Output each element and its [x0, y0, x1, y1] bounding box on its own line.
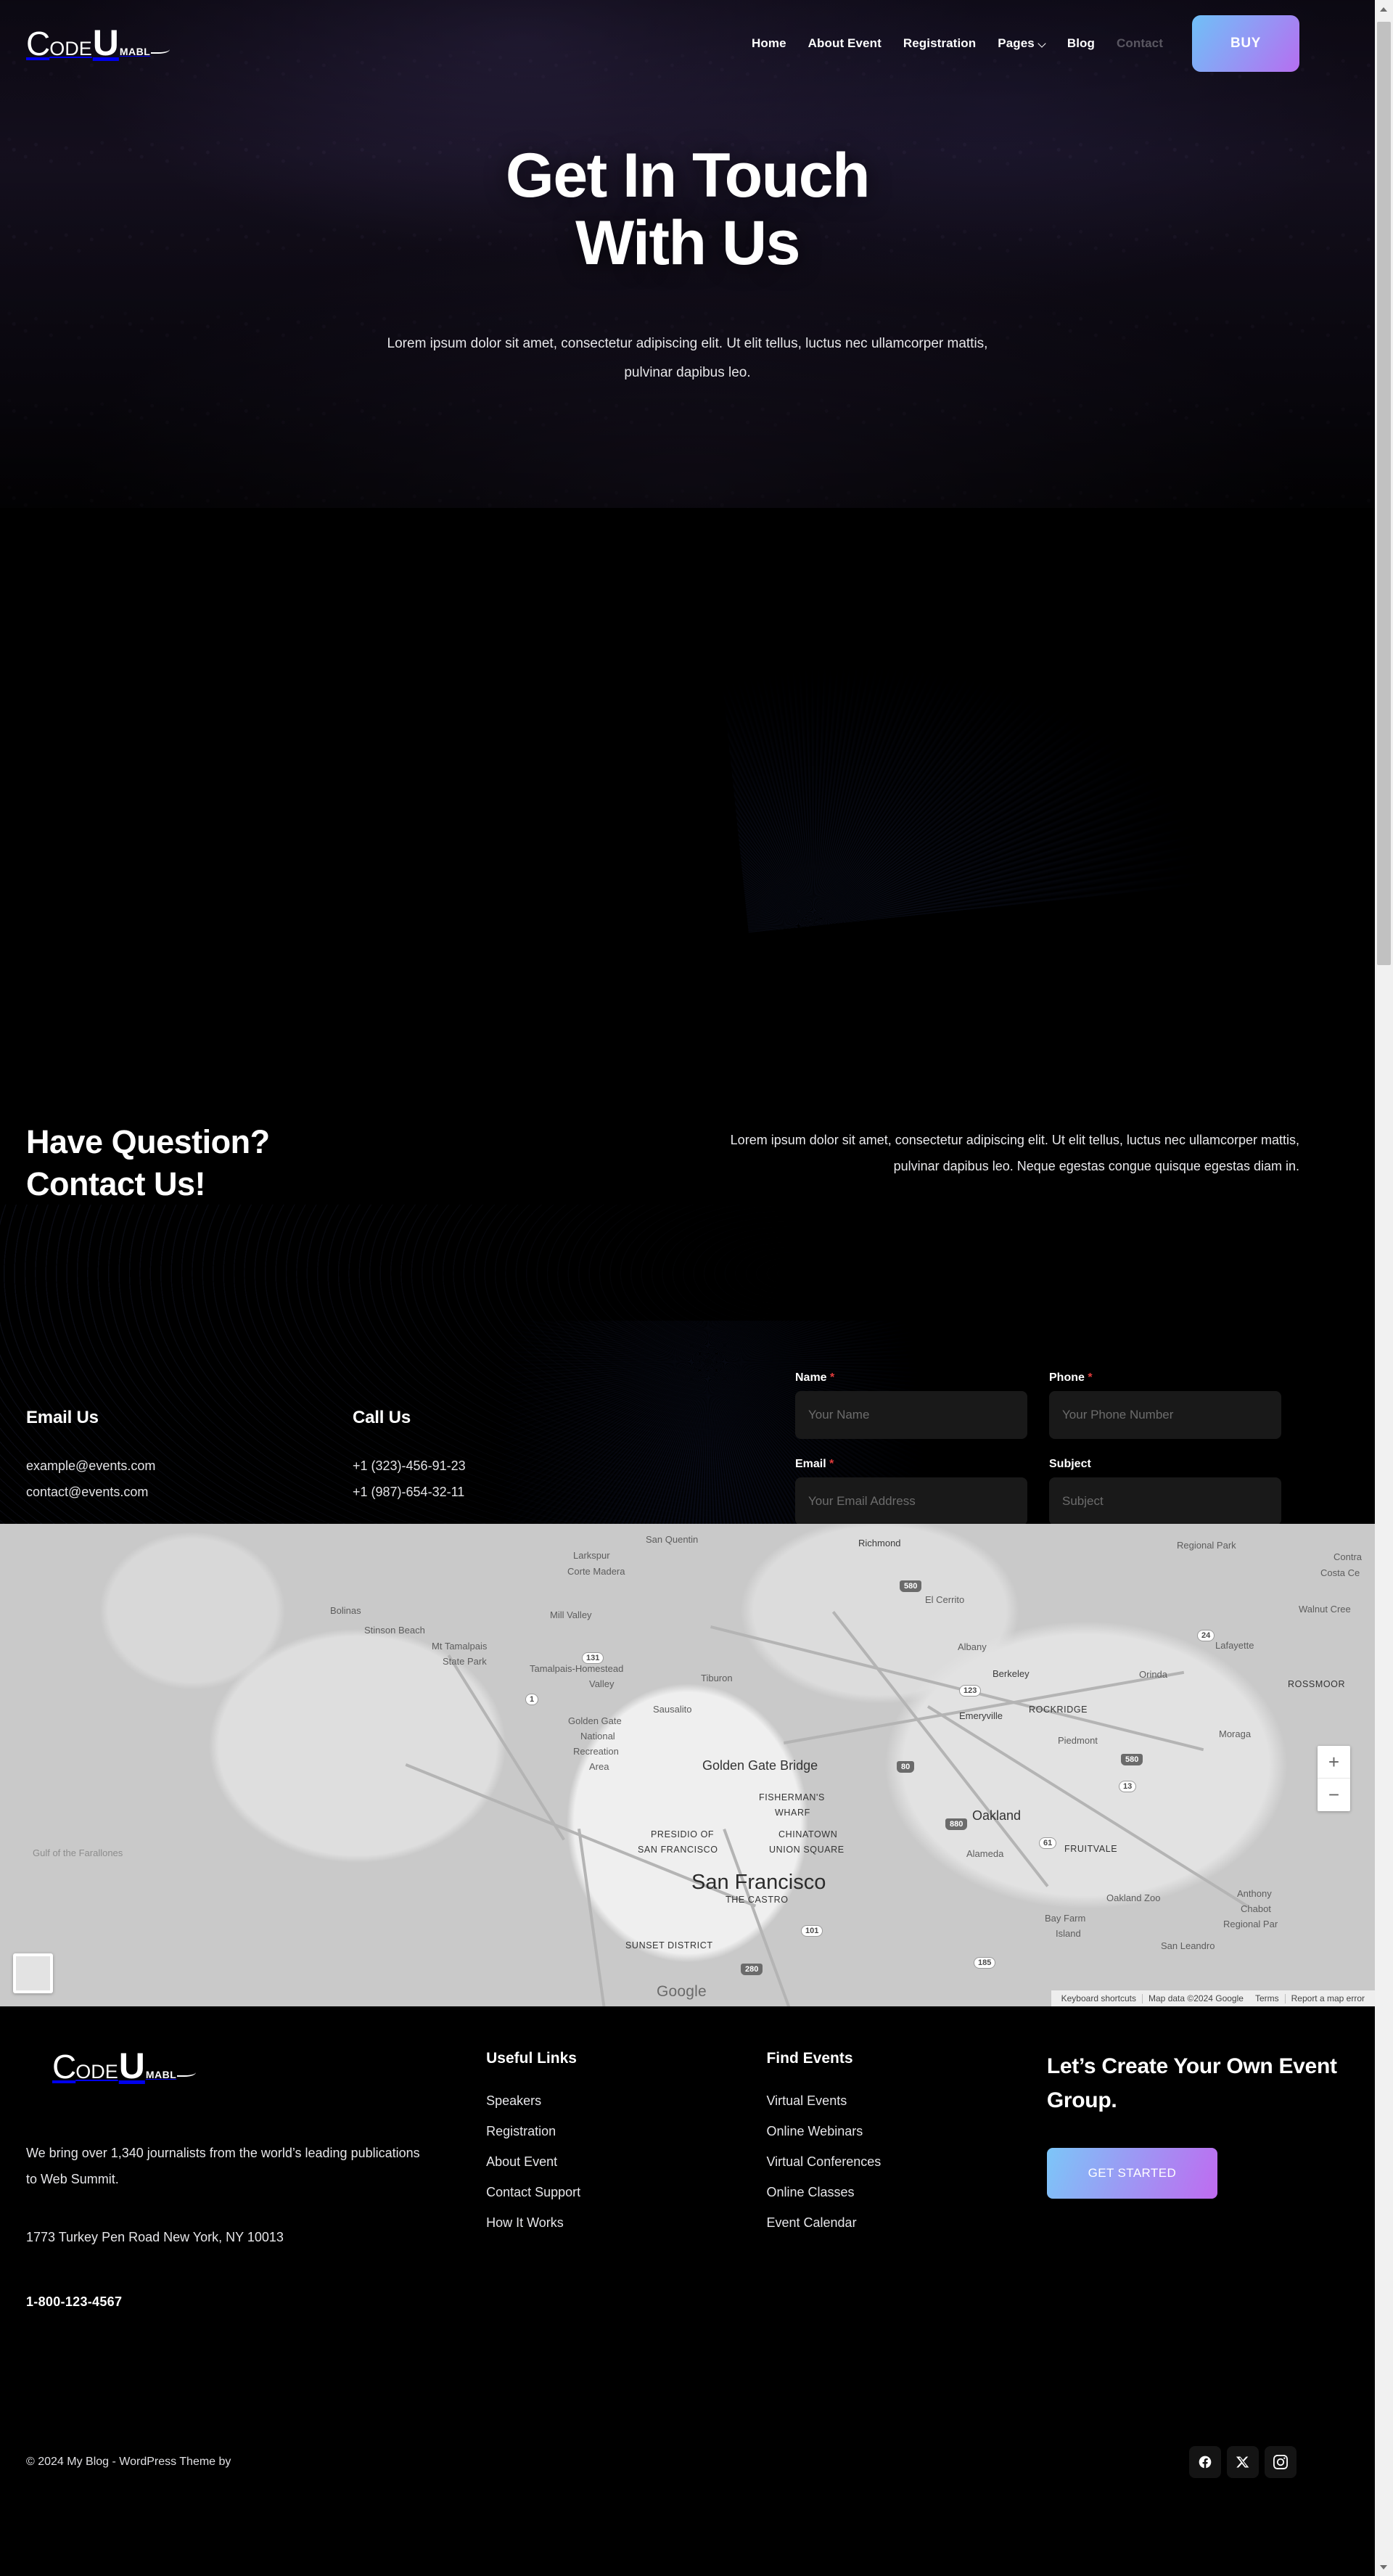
form-row-name-phone: Name * Phone *	[795, 1371, 1281, 1439]
logo-letter-u: U	[93, 27, 119, 60]
form-row-email-subject: Email * Subject	[795, 1458, 1281, 1524]
nav-label: Contact	[1117, 36, 1163, 51]
map-place-label: Valley	[589, 1678, 614, 1689]
map-place-label: Gulf of the Farallones	[33, 1847, 123, 1858]
hero-title-line-2: With Us	[575, 208, 800, 278]
nav-item-home[interactable]: Home	[752, 36, 786, 51]
page-scrollbar[interactable]	[1375, 0, 1393, 2576]
keyboard-shortcuts-link[interactable]: Keyboard shortcuts	[1056, 1993, 1142, 2003]
map-place-label: Regional Park	[1177, 1540, 1236, 1551]
nav-item-registration[interactable]: Registration	[903, 36, 976, 51]
email-label-text: Email	[795, 1458, 826, 1470]
contact-info-grid: Email Us example@events.com contact@even…	[26, 1408, 679, 1524]
field-name: Name *	[795, 1371, 1027, 1439]
footer-link-virtual-events[interactable]: Virtual Events	[766, 2093, 1046, 2109]
primary-nav: Home About Event Registration Pages Blog…	[752, 36, 1163, 51]
map-place-label: Oakland	[972, 1808, 1021, 1824]
map-place-label: Anthony	[1237, 1888, 1272, 1899]
footer-link-about-event[interactable]: About Event	[486, 2154, 766, 2170]
map-place-label: Emeryville	[959, 1710, 1003, 1721]
contact-title-line-1: Have Question?	[26, 1123, 270, 1160]
map-place-label: ROCKRIDGE	[1029, 1705, 1088, 1715]
hero-subtitle: Lorem ipsum dolor sit amet, consectetur …	[369, 329, 1007, 387]
site-footer: CODEUMABL We bring over 1,340 journalist…	[0, 2006, 1375, 2504]
contact-title: Have Question? Contact Us!	[26, 1121, 270, 1205]
nav-label: About Event	[808, 36, 882, 51]
map-place-label: Walnut Cree	[1299, 1604, 1351, 1615]
map-place-label: Lafayette	[1215, 1640, 1254, 1651]
instagram-icon[interactable]	[1265, 2446, 1297, 2478]
footer-link-registration[interactable]: Registration	[486, 2124, 766, 2139]
subject-label-text: Subject	[1049, 1458, 1091, 1470]
map-highway-shield: 131	[582, 1652, 604, 1664]
map-place-label: Bay Farm	[1045, 1913, 1085, 1924]
map-place-label: State Park	[443, 1656, 487, 1667]
email-primary[interactable]: example@events.com	[26, 1459, 353, 1472]
field-phone: Phone *	[1049, 1371, 1281, 1439]
required-asterisk: *	[1088, 1371, 1092, 1384]
map-terrain	[0, 1524, 1375, 2006]
logo-text-mabl: MABL	[146, 2069, 176, 2080]
phone-label-text: Phone	[1049, 1371, 1085, 1384]
nav-item-blog[interactable]: Blog	[1067, 36, 1095, 51]
map-place-label: Costa Ce	[1320, 1567, 1360, 1578]
map-place-label: CHINATOWN	[778, 1829, 837, 1839]
map-place-label: Orinda	[1139, 1669, 1167, 1680]
site-header: CODEUMABL Home About Event Registration …	[0, 0, 1375, 87]
map-place-label: Tamalpais-Homestead	[530, 1663, 623, 1674]
map-highway-shield: 123	[959, 1685, 981, 1697]
map-highway-shield: 80	[897, 1761, 914, 1773]
map-place-label: National	[580, 1731, 615, 1742]
location-map[interactable]: + − Google Keyboard shortcuts Map data ©…	[0, 1524, 1375, 2006]
map-highway-shield: 580	[900, 1580, 921, 1592]
map-place-label: Albany	[958, 1641, 987, 1652]
footer-description: We bring over 1,340 journalists from the…	[26, 2140, 432, 2192]
nav-label: Registration	[903, 36, 976, 51]
required-asterisk: *	[830, 1371, 834, 1384]
x-twitter-icon[interactable]	[1227, 2446, 1259, 2478]
map-place-label: Sausalito	[653, 1704, 691, 1715]
map-data-credit: Map data ©2024 Google	[1143, 1993, 1249, 2003]
map-place-label: Oakland Zoo	[1106, 1892, 1160, 1903]
subject-label: Subject	[1049, 1458, 1281, 1471]
map-place-label: San Leandro	[1161, 1940, 1215, 1951]
contact-block-call-us: Call Us +1 (323)-456-91-23 +1 (987)-654-…	[353, 1408, 679, 1498]
map-highway-shield: 101	[801, 1925, 823, 1937]
map-place-label: THE CASTRO	[726, 1895, 789, 1905]
email-label: Email *	[795, 1458, 1027, 1471]
phone-label: Phone *	[1049, 1371, 1281, 1385]
name-label: Name *	[795, 1371, 1027, 1385]
footer-link-contact-support[interactable]: Contact Support	[486, 2185, 766, 2200]
facebook-icon[interactable]	[1189, 2446, 1221, 2478]
site-logo[interactable]: CODEUMABL	[26, 27, 170, 60]
hero-title-line-1: Get In Touch	[506, 141, 869, 210]
block-heading: Call Us	[353, 1408, 679, 1428]
terms-link[interactable]: Terms	[1249, 1993, 1285, 2003]
map-place-label: SAN FRANCISCO	[638, 1845, 718, 1855]
map-place-label: Mill Valley	[550, 1609, 592, 1620]
map-place-label: Chabot	[1241, 1903, 1271, 1914]
map-place-label: FISHERMAN'S	[759, 1792, 825, 1802]
name-label-text: Name	[795, 1371, 827, 1384]
footer-link-online-webinars[interactable]: Online Webinars	[766, 2124, 1046, 2139]
scrollbar-up-arrow-icon[interactable]	[1375, 0, 1393, 18]
logo-letter-u: U	[119, 2050, 145, 2083]
map-place-label: Piedmont	[1058, 1735, 1098, 1746]
map-zoom-in-button[interactable]: +	[1318, 1746, 1350, 1779]
map-place-label: Island	[1056, 1928, 1081, 1939]
hero-section: CODEUMABL Home About Event Registration …	[0, 0, 1375, 508]
field-email: Email *	[795, 1458, 1027, 1524]
contact-heading: Have Question? Contact Us!	[26, 1121, 270, 1205]
report-map-error-link[interactable]: Report a map error	[1286, 1993, 1371, 2003]
contact-title-line-2: Contact Us!	[26, 1165, 205, 1202]
phone-primary[interactable]: +1 (323)-456-91-23	[353, 1459, 679, 1472]
map-place-label: San Quentin	[646, 1534, 698, 1545]
map-place-label: Regional Par	[1223, 1919, 1278, 1929]
map-place-label: Golden Gate Bridge	[702, 1758, 818, 1773]
contact-paragraph: Lorem ipsum dolor sit amet, consectetur …	[726, 1127, 1299, 1179]
map-place-label: SUNSET DISTRICT	[625, 1940, 713, 1951]
phone-secondary[interactable]: +1 (987)-654-32-11	[353, 1485, 679, 1498]
map-highway-shield: 185	[974, 1957, 995, 1969]
required-asterisk: *	[829, 1458, 834, 1470]
map-place-label: Alameda	[966, 1848, 1003, 1859]
footer-link-event-calendar[interactable]: Event Calendar	[766, 2215, 1046, 2231]
map-highway-shield: 880	[945, 1818, 967, 1830]
page-title: Get In Touch With Us	[0, 142, 1375, 277]
footer-cta-column: Let’s Create Your Own Event Group. GET S…	[1047, 2050, 1349, 2310]
nav-item-contact[interactable]: Contact	[1117, 36, 1163, 51]
name-input[interactable]	[795, 1391, 1027, 1439]
footer-logo[interactable]: CODEUMABL	[52, 2050, 486, 2083]
nav-item-about-event[interactable]: About Event	[808, 36, 882, 51]
map-place-label: Tiburon	[701, 1673, 733, 1683]
map-highway-shield: 580	[1121, 1754, 1143, 1765]
logo-swoosh-icon	[151, 46, 170, 54]
footer-address: 1773 Turkey Pen Road New York, NY 10013	[26, 2230, 486, 2245]
map-place-label: El Cerrito	[925, 1594, 964, 1605]
map-zoom-out-button[interactable]: −	[1318, 1779, 1350, 1811]
google-watermark: Google	[657, 1983, 707, 2001]
column-heading: Useful Links	[486, 2050, 766, 2067]
social-links	[1189, 2446, 1297, 2478]
get-started-button[interactable]: GET STARTED	[1047, 2148, 1217, 2199]
footer-column-find-events: Find Events Virtual Events Online Webina…	[766, 2050, 1046, 2310]
map-highway-shield: 13	[1119, 1781, 1136, 1792]
map-layers-thumbnail-button[interactable]	[13, 1953, 53, 1993]
map-place-label: Stinson Beach	[364, 1625, 425, 1636]
subject-input[interactable]	[1049, 1477, 1281, 1524]
map-place-label: Berkeley	[993, 1668, 1030, 1679]
footer-phone[interactable]: 1-800-123-4567	[26, 2294, 486, 2310]
map-highway-shield: 61	[1039, 1837, 1056, 1849]
map-place-label: Area	[589, 1761, 609, 1772]
map-place-label: PRESIDIO OF	[651, 1829, 714, 1839]
footer-columns: CODEUMABL We bring over 1,340 journalist…	[0, 2050, 1375, 2310]
logo-letter-c: C	[26, 29, 49, 59]
map-place-label: Contra	[1334, 1551, 1362, 1562]
contact-form: Name * Phone * Email *	[795, 1371, 1281, 1524]
page-root: CODEUMABL Home About Event Registration …	[0, 0, 1375, 2504]
map-place-label: Moraga	[1219, 1728, 1251, 1739]
nav-label: Pages	[998, 36, 1035, 51]
map-place-label: Larkspur	[573, 1550, 610, 1561]
footer-brand-column: CODEUMABL We bring over 1,340 journalist…	[26, 2050, 486, 2310]
buy-button[interactable]: BUY	[1192, 15, 1299, 72]
contact-section: Have Question? Contact Us! Lorem ipsum d…	[0, 508, 1375, 1524]
map-highway-shield: 1	[525, 1694, 538, 1705]
logo-swoosh-icon	[177, 2070, 196, 2077]
scrollbar-thumb[interactable]	[1377, 22, 1391, 965]
hero-content: Get In Touch With Us Lorem ipsum dolor s…	[0, 142, 1375, 387]
footer-copyright-bar: © 2024 My Blog - WordPress Theme by	[0, 2419, 1375, 2504]
map-place-label: Richmond	[858, 1538, 901, 1549]
contact-info-row-1: Email Us example@events.com contact@even…	[26, 1408, 679, 1498]
scrollbar-down-arrow-icon[interactable]	[1375, 2558, 1393, 2576]
nav-label: Home	[752, 36, 786, 51]
map-place-label: ROSSMOOR	[1288, 1679, 1345, 1689]
copyright-text: © 2024 My Blog - WordPress Theme by	[26, 2456, 231, 2469]
footer-link-online-classes[interactable]: Online Classes	[766, 2185, 1046, 2200]
decorative-swirl-top	[706, 508, 1375, 933]
map-attribution-bar: Keyboard shortcuts Map data ©2024 Google…	[1051, 1990, 1375, 2006]
email-input[interactable]	[795, 1477, 1027, 1524]
map-place-label: WHARF	[775, 1808, 810, 1818]
logo-text-ode: ODE	[75, 2061, 118, 2083]
field-subject: Subject	[1049, 1458, 1281, 1524]
map-place-label: Mt Tamalpais	[432, 1641, 487, 1652]
map-place-label: Bolinas	[330, 1605, 361, 1616]
column-heading: Find Events	[766, 2050, 1046, 2067]
footer-link-speakers[interactable]: Speakers	[486, 2093, 766, 2109]
logo-text-mabl: MABL	[120, 46, 150, 57]
email-secondary[interactable]: contact@events.com	[26, 1485, 353, 1498]
contact-block-email-us: Email Us example@events.com contact@even…	[26, 1408, 353, 1498]
logo-letter-c: C	[52, 2052, 75, 2082]
map-highway-shield: 280	[741, 1964, 763, 1975]
map-place-label: Golden Gate	[568, 1715, 622, 1726]
nav-item-pages[interactable]: Pages	[998, 36, 1045, 51]
footer-link-how-it-works[interactable]: How It Works	[486, 2215, 766, 2231]
logo-text-ode: ODE	[49, 38, 92, 60]
map-place-label: Corte Madera	[567, 1566, 625, 1577]
map-place-label: San Francisco	[691, 1871, 826, 1895]
map-place-label: FRUITVALE	[1064, 1844, 1117, 1854]
footer-link-virtual-conferences[interactable]: Virtual Conferences	[766, 2154, 1046, 2170]
phone-input[interactable]	[1049, 1391, 1281, 1439]
map-highway-shield: 24	[1197, 1630, 1215, 1641]
map-place-label: Recreation	[573, 1746, 619, 1757]
nav-label: Blog	[1067, 36, 1095, 51]
block-heading: Email Us	[26, 1408, 353, 1428]
footer-column-useful-links: Useful Links Speakers Registration About…	[486, 2050, 766, 2310]
footer-cta-title: Let’s Create Your Own Event Group.	[1047, 2050, 1349, 2117]
map-zoom-controls[interactable]: + −	[1318, 1746, 1350, 1811]
chevron-down-icon	[1039, 41, 1045, 47]
map-place-label: UNION SQUARE	[769, 1845, 845, 1855]
